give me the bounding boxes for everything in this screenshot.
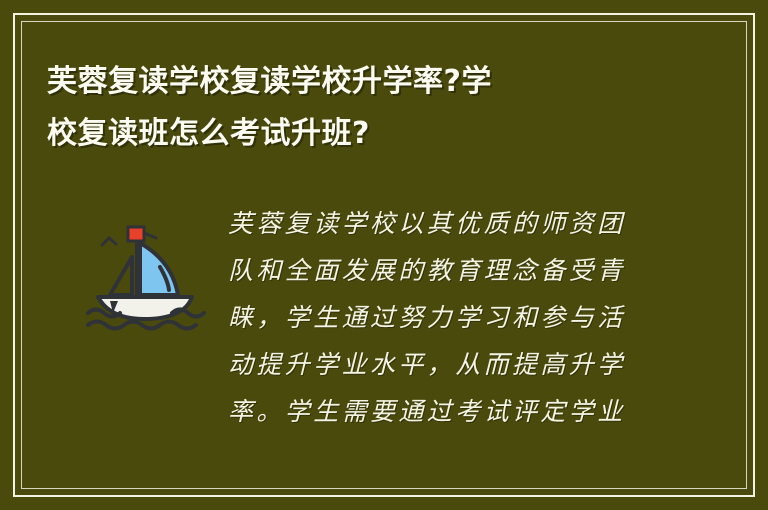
flag-pole-top: [144, 233, 156, 238]
title-line-1: 芙蓉复读学校复读学校升学率?学: [47, 56, 647, 108]
bird-icon: [102, 238, 116, 245]
title-line-2: 校复读班怎么考试升班?: [47, 108, 647, 160]
body-line-4: 动提升学业水平，从而提高升学: [228, 341, 652, 388]
article-card: 芙蓉复读学校复读学校升学率?学 校复读班怎么考试升班?: [0, 0, 768, 510]
body-line-5: 率。学生需要通过考试评定学业: [228, 388, 652, 435]
article-body: 芙蓉复读学校以其优质的师资团 队和全面发展的教育理念备受青 睐，学生通过努力学习…: [228, 200, 652, 435]
red-flag: [128, 227, 144, 241]
sailboat-illustration: [80, 205, 212, 337]
page-title: 芙蓉复读学校复读学校升学率?学 校复读班怎么考试升班?: [47, 56, 647, 160]
body-line-2: 队和全面发展的教育理念备受青: [228, 247, 652, 294]
body-line-1: 芙蓉复读学校以其优质的师资团: [228, 200, 652, 247]
body-line-3: 睐，学生通过努力学习和参与活: [228, 294, 652, 341]
jib-sail: [110, 257, 132, 295]
